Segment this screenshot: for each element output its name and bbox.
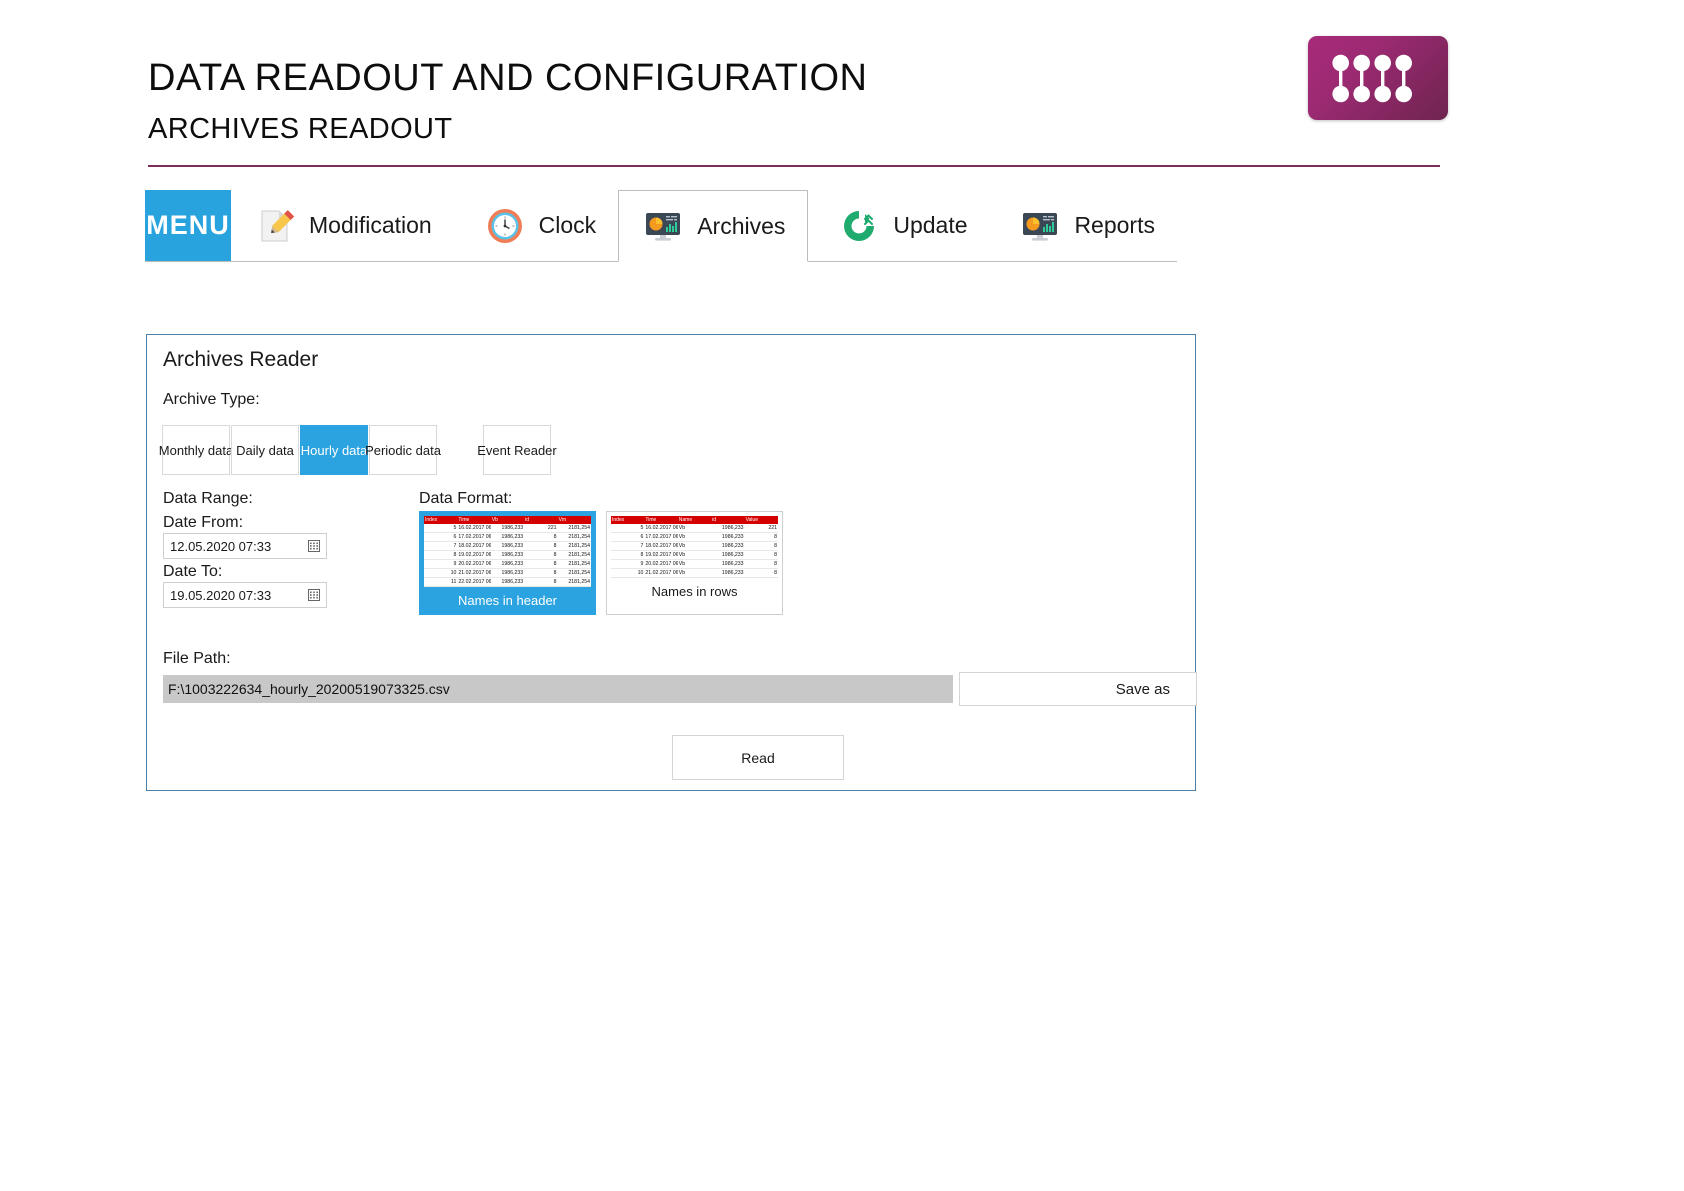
table-row: 617.02.2017 06:001986,23382181,254 — [424, 533, 591, 542]
page-subtitle: ARCHIVES READOUT — [148, 114, 1440, 146]
pencil-document-icon — [253, 204, 297, 248]
monitor-chart-icon — [641, 204, 685, 248]
format-option-names-in-header[interactable]: Index Time Vb id Vm 516.02.2017 06:00198… — [419, 511, 596, 615]
archives-reader-panel: Archives Reader Archive Type: Monthly da… — [146, 334, 1196, 791]
table-header-row: Index Time Name id Value — [611, 516, 778, 524]
tab-clock[interactable]: Clock — [461, 190, 619, 261]
tab-update-label: Update — [893, 212, 967, 239]
table-body: 516.02.2017 06:001986,2332212181,254 617… — [424, 524, 591, 587]
table-row: 617.02.2017 06:00Vb1986,2338 — [611, 533, 778, 542]
col-value: Value — [745, 516, 778, 524]
format-preview-table: Index Time Vb id Vm 516.02.2017 06:00198… — [424, 516, 591, 587]
calendar-icon[interactable] — [308, 589, 320, 601]
brand-logo-icon — [1308, 36, 1448, 120]
col-time: Time — [644, 516, 677, 524]
table-row: 516.02.2017 06:001986,2332212181,254 — [424, 524, 591, 533]
title-divider — [148, 165, 1440, 167]
archive-type-label: Archive Type: — [163, 391, 260, 409]
main-tabbar: MENU Modification — [145, 190, 1177, 262]
date-from-value: 12.05.2020 07:33 — [170, 539, 308, 554]
date-from-input[interactable]: 12.05.2020 07:33 — [163, 533, 327, 559]
read-button[interactable]: Read — [672, 735, 844, 780]
data-format-label: Data Format: — [419, 490, 512, 508]
save-as-button[interactable]: Save as — [959, 672, 1197, 706]
table-row: 920.02.2017 06:001986,23382181,254 — [424, 560, 591, 569]
tab-reports[interactable]: Reports — [996, 190, 1177, 261]
tab-spacer — [808, 190, 815, 261]
col-index: Index — [611, 516, 644, 524]
table-row: 1021.02.2017 06:001986,23382181,254 — [424, 569, 591, 578]
date-from-label: Date From: — [163, 514, 243, 532]
table-row: 718.02.2017 06:00Vb1986,2338 — [611, 542, 778, 551]
table-header-row: Index Time Vb id Vm — [424, 516, 591, 524]
col-id: id — [524, 516, 557, 524]
col-vb: Vb — [491, 516, 524, 524]
tab-archives[interactable]: Archives — [618, 190, 808, 262]
archive-type-periodic[interactable]: Periodic data — [369, 425, 437, 475]
date-to-input[interactable]: 19.05.2020 07:33 — [163, 582, 327, 608]
page-header: DATA READOUT AND CONFIGURATION ARCHIVES … — [148, 58, 1440, 146]
tab-reports-label: Reports — [1074, 212, 1155, 239]
tab-modification[interactable]: Modification — [231, 190, 454, 261]
table-row: 1021.02.2017 06:00Vb1986,2338 — [611, 569, 778, 578]
table-row: 819.02.2017 06:001986,23382181,254 — [424, 551, 591, 560]
tab-spacer — [454, 190, 461, 261]
col-time: Time — [457, 516, 490, 524]
tab-archives-label: Archives — [697, 213, 785, 240]
file-path-input[interactable]: F:\1003222634_hourly_20200519073325.csv — [163, 675, 953, 703]
archive-type-daily[interactable]: Daily data — [231, 425, 299, 475]
file-path-label: File Path: — [163, 650, 231, 668]
table-body: 516.02.2017 06:00Vb1986,233221 617.02.20… — [611, 524, 778, 578]
tab-modification-label: Modification — [309, 212, 432, 239]
monitor-chart-icon — [1018, 204, 1062, 248]
calendar-icon[interactable] — [308, 540, 320, 552]
file-path-value: F:\1003222634_hourly_20200519073325.csv — [168, 681, 450, 697]
clock-icon — [483, 204, 527, 248]
tab-spacer — [990, 190, 997, 261]
date-to-value: 19.05.2020 07:33 — [170, 588, 308, 603]
table-row: 718.02.2017 06:001986,23382181,254 — [424, 542, 591, 551]
data-format-options: Index Time Vb id Vm 516.02.2017 06:00198… — [419, 511, 783, 615]
format-option-names-in-rows[interactable]: Index Time Name id Value 516.02.2017 06:… — [606, 511, 783, 615]
format-caption: Names in header — [424, 587, 591, 614]
col-id: id — [711, 516, 744, 524]
tab-update[interactable]: Update — [815, 190, 989, 261]
event-reader-button[interactable]: Event Reader — [483, 425, 551, 475]
format-caption: Names in rows — [611, 578, 778, 605]
archive-type-hourly[interactable]: Hourly data — [300, 425, 368, 475]
tab-clock-label: Clock — [539, 212, 597, 239]
table-row: 920.02.2017 06:00Vb1986,2338 — [611, 560, 778, 569]
format-preview-table: Index Time Name id Value 516.02.2017 06:… — [611, 516, 778, 578]
archive-type-buttons: Monthly data Daily data Hourly data Peri… — [162, 425, 552, 475]
panel-title: Archives Reader — [163, 348, 318, 372]
brand-logo — [1308, 36, 1448, 120]
refresh-circle-icon — [837, 204, 881, 248]
col-name: Name — [678, 516, 711, 524]
tab-menu[interactable]: MENU — [145, 190, 231, 261]
table-row: 516.02.2017 06:00Vb1986,233221 — [611, 524, 778, 533]
archive-type-monthly[interactable]: Monthly data — [162, 425, 230, 475]
page-title: DATA READOUT AND CONFIGURATION — [148, 58, 1440, 100]
date-to-label: Date To: — [163, 563, 222, 581]
table-row: 1122.02.2017 06:001986,23382181,254 — [424, 578, 591, 587]
data-range-label: Data Range: — [163, 490, 253, 508]
col-vm: Vm — [558, 516, 591, 524]
table-row: 819.02.2017 06:00Vb1986,2338 — [611, 551, 778, 560]
tab-menu-label: MENU — [146, 210, 230, 241]
col-index: Index — [424, 516, 457, 524]
